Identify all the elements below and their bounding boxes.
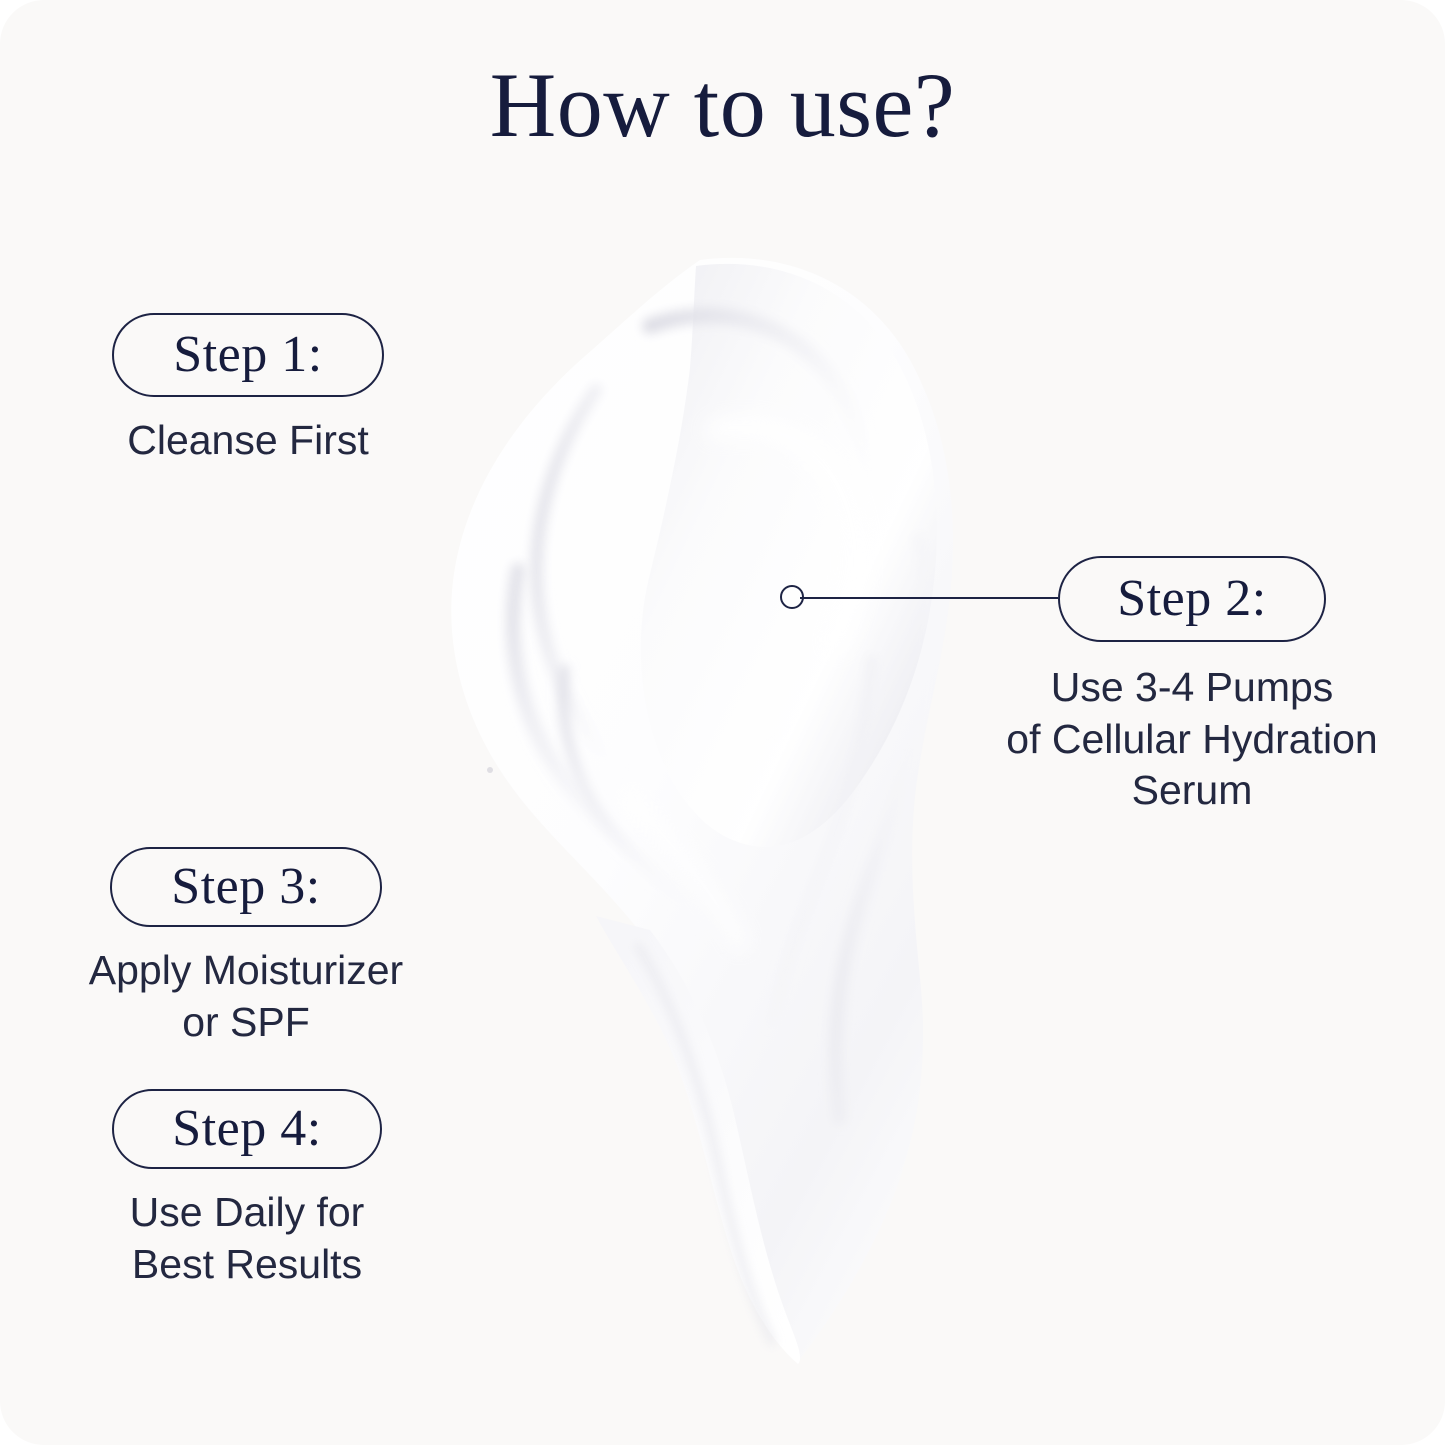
step-1-description: Cleanse First — [112, 415, 384, 467]
step-3-badge: Step 3: — [110, 847, 382, 927]
step-item-2: Step 2: Use 3-4 Pumps of Cellular Hydrat… — [1058, 556, 1326, 817]
page-title: How to use? — [0, 56, 1445, 155]
cream-swatch-image — [400, 240, 1020, 1370]
step-item-1: Step 1: Cleanse First — [112, 313, 384, 467]
step-1-badge: Step 1: — [112, 313, 384, 397]
step-2-badge: Step 2: — [1058, 556, 1326, 642]
step-4-description: Use Daily for Best Results — [112, 1187, 382, 1290]
step-2-description: Use 3-4 Pumps of Cellular Hydration Seru… — [992, 662, 1392, 817]
infographic-card: How to use? — [0, 0, 1445, 1445]
leader-line — [800, 597, 1058, 599]
step-4-badge: Step 4: — [112, 1089, 382, 1169]
step-3-description: Apply Moisturizer or SPF — [46, 945, 446, 1048]
step-item-4: Step 4: Use Daily for Best Results — [112, 1089, 382, 1290]
step-item-3: Step 3: Apply Moisturizer or SPF — [110, 847, 382, 1048]
